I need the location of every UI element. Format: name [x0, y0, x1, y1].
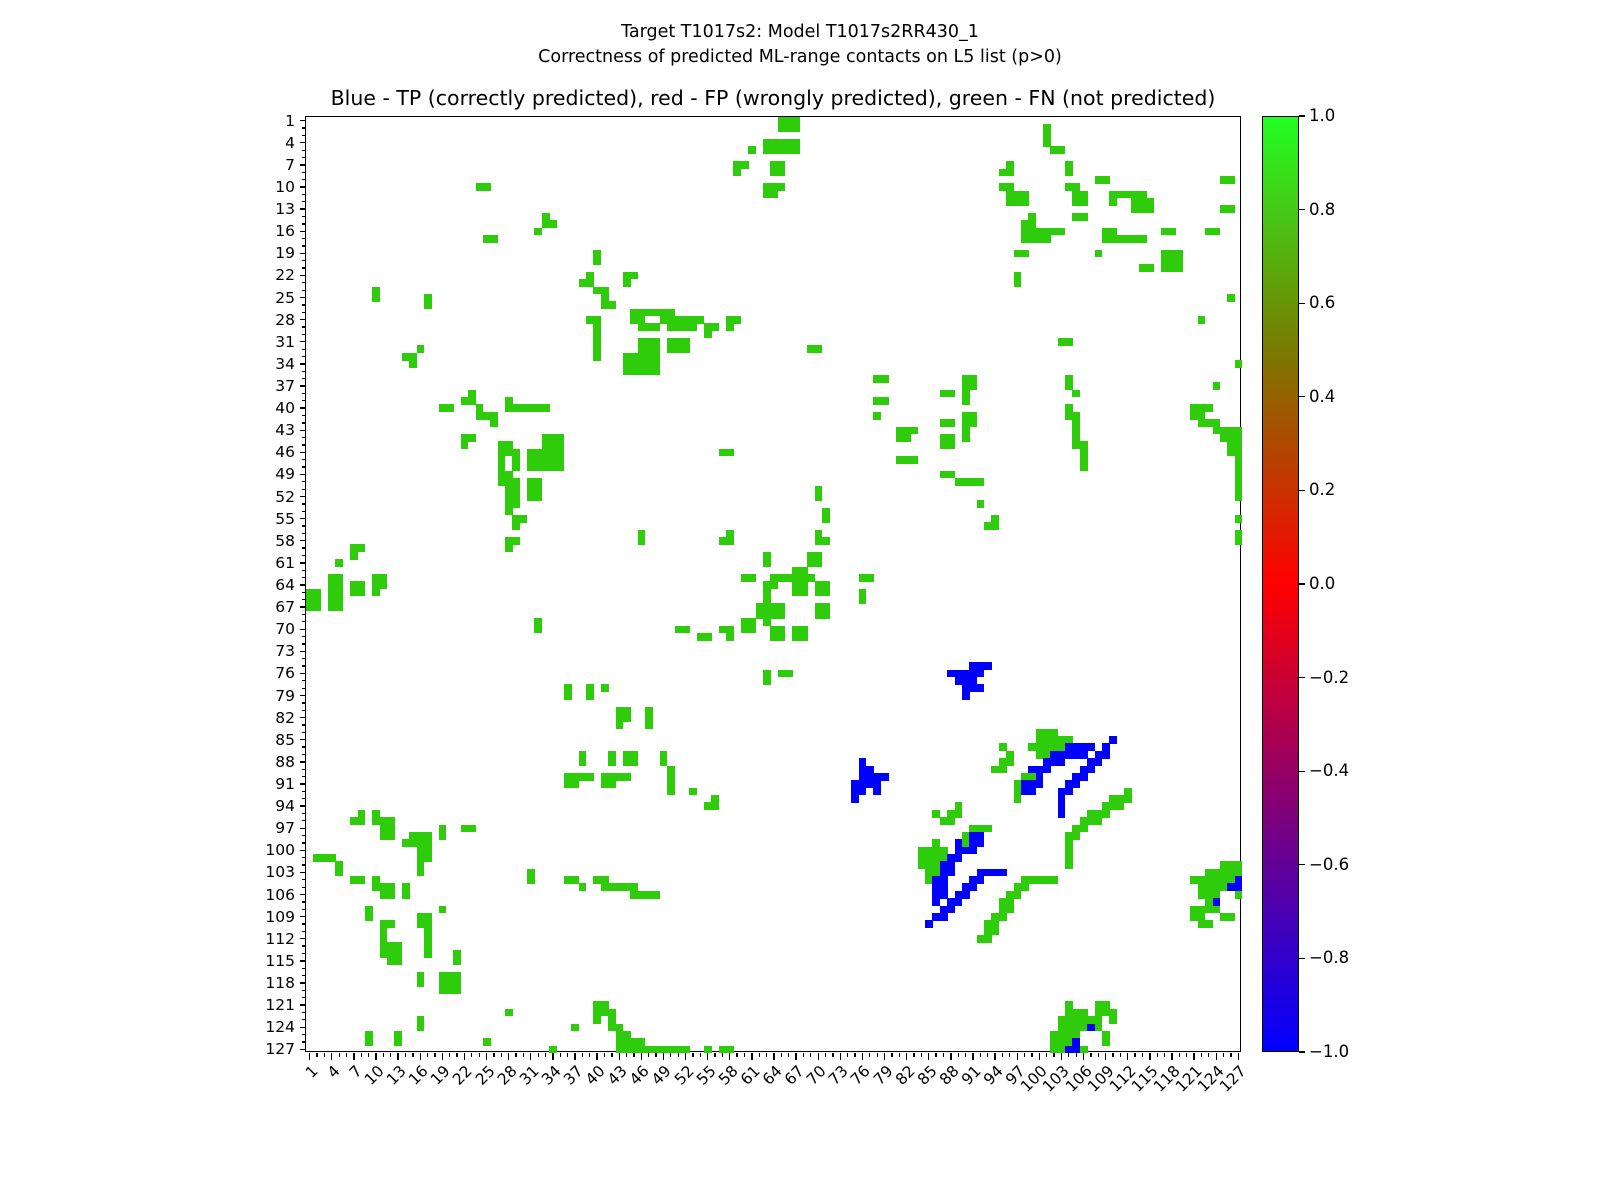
y-tick-label: 22: [205, 266, 295, 284]
y-tick-major: [300, 430, 307, 431]
y-tick-minor: [302, 393, 306, 394]
x-tick-major: [375, 1053, 376, 1060]
y-tick-major: [300, 363, 307, 364]
contact-cell-fn: [689, 323, 697, 331]
contact-cell-tp: [1087, 1024, 1095, 1032]
contact-cell-fn: [910, 456, 918, 464]
contact-cell-fn: [763, 618, 771, 626]
x-tick-major: [685, 1053, 686, 1060]
x-tick-minor: [714, 1053, 715, 1057]
contact-cell-fn: [350, 552, 358, 560]
x-tick-minor: [781, 1053, 782, 1057]
y-tick-minor: [302, 245, 306, 246]
y-tick-label: 19: [205, 244, 295, 262]
y-tick-minor: [302, 304, 306, 305]
contact-cell-fn: [1072, 390, 1080, 398]
x-tick-minor: [1098, 1053, 1099, 1057]
contact-cell-fn: [623, 279, 631, 287]
contact-cell-fn: [1080, 825, 1088, 833]
colorbar-tick-label: 0.2: [1309, 480, 1335, 499]
contact-cell-tp: [881, 773, 889, 781]
contact-cell-tp: [977, 876, 985, 884]
contact-cell-fn: [534, 493, 542, 501]
y-tick-major: [300, 208, 307, 209]
x-tick-minor: [1120, 1053, 1121, 1057]
contact-cell-fn: [1168, 228, 1176, 236]
contact-cell-fn: [1198, 412, 1206, 420]
y-tick-minor: [302, 349, 306, 350]
x-tick-major: [442, 1053, 443, 1060]
contact-cell-fn: [1102, 810, 1110, 818]
x-tick-major: [1083, 1053, 1084, 1060]
x-tick-major: [1039, 1053, 1040, 1060]
x-tick-minor: [471, 1053, 472, 1057]
contact-cell-fn: [358, 876, 366, 884]
contact-cell-tp: [1058, 758, 1066, 766]
contact-cell-fn: [1102, 176, 1110, 184]
contact-cell-fn: [881, 397, 889, 405]
contact-cell-fn: [1058, 228, 1066, 236]
contact-cell-fn: [778, 183, 786, 191]
x-tick-minor: [626, 1053, 627, 1057]
x-tick-minor: [655, 1053, 656, 1057]
contact-cell-fn: [1109, 198, 1117, 206]
contact-cell-fn: [402, 891, 410, 899]
y-tick-minor: [302, 172, 306, 173]
contact-cell-fn: [682, 345, 690, 353]
contact-cell-fn: [505, 1009, 513, 1017]
contact-cell-fn: [711, 323, 719, 331]
contact-cell-fn: [999, 913, 1007, 921]
contact-cell-fn: [468, 825, 476, 833]
x-tick-major: [751, 1053, 752, 1060]
x-tick-minor: [869, 1053, 870, 1057]
x-tick-major: [1238, 1053, 1239, 1060]
x-tick-major: [574, 1053, 575, 1060]
x-tick-minor: [1031, 1053, 1032, 1057]
x-tick-minor: [1230, 1053, 1231, 1057]
contact-cell-fn: [1235, 360, 1243, 368]
contact-cell-fn: [726, 449, 734, 457]
y-tick-label: 46: [205, 443, 295, 461]
contact-cell-fn: [822, 537, 830, 545]
y-tick-major: [300, 319, 307, 320]
x-tick-major: [906, 1053, 907, 1060]
y-tick-minor: [302, 835, 306, 836]
y-tick-minor: [302, 621, 306, 622]
y-tick-minor: [302, 968, 306, 969]
contact-cell-fn: [822, 515, 830, 523]
y-tick-minor: [302, 511, 306, 512]
contact-cell-fn: [512, 500, 520, 508]
colorbar[interactable]: [1262, 116, 1299, 1052]
y-tick-label: 1: [205, 112, 295, 130]
contact-cell-fn: [593, 323, 601, 331]
y-tick-label: 121: [205, 996, 295, 1014]
contact-cell-fn: [623, 714, 631, 722]
colorbar-tick-label: −0.2: [1309, 668, 1349, 687]
contact-cell-fn: [424, 854, 432, 862]
y-tick-minor: [302, 798, 306, 799]
x-tick-minor: [1090, 1053, 1091, 1057]
x-tick-minor: [958, 1053, 959, 1057]
x-tick-minor: [1002, 1053, 1003, 1057]
y-tick-label: 64: [205, 576, 295, 594]
figure-root: Target T1017s2: Model T1017s2RR430_1Corr…: [0, 0, 1600, 1200]
y-tick-label: 124: [205, 1018, 295, 1036]
contact-cell-fn: [586, 692, 594, 700]
y-tick-label: 10: [205, 178, 295, 196]
y-tick-minor: [302, 1012, 306, 1013]
x-tick-major: [773, 1053, 774, 1060]
y-tick-label: 7: [205, 156, 295, 174]
y-tick-major: [300, 385, 307, 386]
contact-cell-fn: [1021, 883, 1029, 891]
y-tick-major: [300, 540, 307, 541]
contact-cell-fn: [947, 817, 955, 825]
contact-cell-fn: [549, 220, 557, 228]
contact-cell-fn: [1213, 382, 1221, 390]
y-tick-label: 4: [205, 134, 295, 152]
contact-cell-tp: [1072, 780, 1080, 788]
contact-cell-fn: [1065, 169, 1073, 177]
contact-cell-fn: [962, 434, 970, 442]
y-tick-minor: [302, 901, 306, 902]
contact-cell-fn: [490, 419, 498, 427]
contact-cell-fn: [955, 810, 963, 818]
y-tick-label: 28: [205, 311, 295, 329]
contact-cell-tp: [962, 891, 970, 899]
contact-cell-fn: [1006, 758, 1014, 766]
contact-cell-fn: [763, 559, 771, 567]
x-tick-major: [729, 1053, 730, 1060]
y-tick-minor: [302, 157, 306, 158]
contact-cell-fn: [358, 817, 366, 825]
y-tick-label: 61: [205, 554, 295, 572]
y-tick-label: 43: [205, 421, 295, 439]
y-tick-major: [300, 673, 307, 674]
colorbar-tick: [1299, 396, 1305, 397]
colorbar-tick-label: 0.8: [1309, 200, 1335, 219]
y-tick-major: [300, 164, 307, 165]
x-tick-major: [464, 1053, 465, 1060]
contact-cell-tp: [962, 692, 970, 700]
x-tick-minor: [515, 1053, 516, 1057]
contact-cell-fn: [483, 1038, 491, 1046]
x-tick-minor: [604, 1053, 605, 1057]
contact-cell-tp: [1080, 773, 1088, 781]
x-tick-minor: [1208, 1053, 1209, 1057]
contact-cell-tp: [977, 839, 985, 847]
x-tick-minor: [759, 1053, 760, 1057]
contact-cell-tp: [977, 684, 985, 692]
x-tick-minor: [383, 1053, 384, 1057]
contact-cell-fn: [335, 869, 343, 877]
contact-cell-tp: [999, 869, 1007, 877]
contact-cell-fn: [512, 522, 520, 530]
contact-cell-fn: [372, 589, 380, 597]
contact-cell-fn: [586, 773, 594, 781]
contact-cell-fn: [903, 434, 911, 442]
contact-cell-fn: [417, 979, 425, 987]
contact-cell-fn: [601, 684, 609, 692]
contact-cell-fn: [1235, 891, 1243, 899]
y-tick-label: 103: [205, 863, 295, 881]
x-tick-major: [353, 1053, 354, 1060]
x-tick-minor: [1201, 1053, 1202, 1057]
contact-cell-fn: [1095, 817, 1103, 825]
contact-cell-tp: [1036, 780, 1044, 788]
x-tick-minor: [943, 1053, 944, 1057]
x-tick-minor: [368, 1053, 369, 1057]
contact-cell-fn: [962, 397, 970, 405]
contact-cell-fn: [652, 368, 660, 376]
contact-cell-fn: [763, 677, 771, 685]
x-tick-major: [596, 1053, 597, 1060]
y-tick-minor: [302, 1019, 306, 1020]
contact-cell-fn: [770, 581, 778, 589]
contact-cell-fn: [733, 316, 741, 324]
y-tick-major: [300, 805, 307, 806]
contact-cell-tp: [1072, 1038, 1080, 1046]
contact-cell-fn: [1058, 146, 1066, 154]
contact-cell-fn: [512, 537, 520, 545]
x-tick-major: [884, 1053, 885, 1060]
contact-cell-fn: [881, 375, 889, 383]
contact-cell-fn: [873, 412, 881, 420]
y-tick-major: [300, 275, 307, 276]
contact-cell-fn: [1072, 832, 1080, 840]
x-tick-minor: [545, 1053, 546, 1057]
contact-cell-fn: [1095, 250, 1103, 258]
y-tick-label: 109: [205, 908, 295, 926]
x-tick-minor: [339, 1053, 340, 1057]
contact-cell-fn: [778, 169, 786, 177]
y-tick-minor: [302, 680, 306, 681]
x-tick-minor: [854, 1053, 855, 1057]
contact-cell-fn: [608, 301, 616, 309]
y-tick-minor: [302, 525, 306, 526]
y-tick-label: 85: [205, 731, 295, 749]
x-tick-minor: [456, 1053, 457, 1057]
contact-map-axes[interactable]: [305, 116, 1241, 1052]
y-tick-minor: [302, 791, 306, 792]
x-tick-minor: [346, 1053, 347, 1057]
contact-cell-fn: [815, 345, 823, 353]
contact-cell-fn: [748, 574, 756, 582]
contact-cell-fn: [1198, 316, 1206, 324]
contact-cell-fn: [1139, 235, 1147, 243]
x-tick-minor: [1223, 1053, 1224, 1057]
y-tick-minor: [302, 179, 306, 180]
y-tick-minor: [302, 466, 306, 467]
contact-cell-fn: [800, 633, 808, 641]
contact-cell-fn: [1235, 515, 1243, 523]
contact-cell-fn: [446, 404, 454, 412]
y-tick-major: [300, 1027, 307, 1028]
contact-cell-fn: [726, 537, 734, 545]
contact-cell-fn: [1117, 802, 1125, 810]
contact-cell-fn: [424, 950, 432, 958]
y-tick-minor: [302, 1034, 306, 1035]
x-tick-major: [818, 1053, 819, 1060]
contact-cell-fn: [1205, 404, 1213, 412]
x-tick-minor: [899, 1053, 900, 1057]
x-tick-minor: [980, 1053, 981, 1057]
contact-cell-fn: [1227, 176, 1235, 184]
contact-cell-tp: [1043, 766, 1051, 774]
x-tick-minor: [1157, 1053, 1158, 1057]
x-tick-minor: [1112, 1053, 1113, 1057]
contact-cell-fn: [1014, 279, 1022, 287]
y-tick-label: 37: [205, 377, 295, 395]
contact-cell-fn: [910, 427, 918, 435]
contact-cell-fn: [1043, 235, 1051, 243]
contact-cell-fn: [520, 515, 528, 523]
contact-cell-fn: [652, 323, 660, 331]
y-tick-minor: [302, 238, 306, 239]
x-tick-minor: [736, 1053, 737, 1057]
x-tick-minor: [501, 1053, 502, 1057]
contact-cell-fn: [417, 1024, 425, 1032]
contact-cell-fn: [704, 331, 712, 339]
y-tick-minor: [302, 1041, 306, 1042]
x-tick-minor: [1009, 1053, 1010, 1057]
contact-cell-fn: [1021, 250, 1029, 258]
contact-map-cells: [306, 117, 1240, 1051]
contact-cell-fn: [1065, 338, 1073, 346]
contact-cell-fn: [468, 434, 476, 442]
contact-cell-fn: [439, 906, 447, 914]
contact-cell-fn: [807, 559, 815, 567]
x-tick-major: [1149, 1053, 1150, 1060]
figure-suptitle: Target T1017s2: Model T1017s2RR430_1Corr…: [0, 20, 1600, 70]
contact-cell-fn: [335, 559, 343, 567]
colorbar-tick: [1299, 771, 1305, 772]
colorbar-tick: [1299, 115, 1305, 116]
contact-cell-fn: [498, 441, 506, 449]
contact-cell-fn: [439, 832, 447, 840]
x-tick-major: [795, 1053, 796, 1060]
x-tick-minor: [766, 1053, 767, 1057]
contact-cell-fn: [623, 773, 631, 781]
y-tick-minor: [302, 437, 306, 438]
y-tick-label: 55: [205, 510, 295, 528]
x-tick-minor: [316, 1053, 317, 1057]
contact-cell-fn: [534, 228, 542, 236]
contact-cell-fn: [726, 633, 734, 641]
x-tick-minor: [412, 1053, 413, 1057]
y-tick-minor: [302, 813, 306, 814]
contact-cell-fn: [792, 139, 800, 147]
y-tick-label: 91: [205, 775, 295, 793]
x-tick-minor: [700, 1053, 701, 1057]
contact-cell-fn: [527, 493, 535, 501]
colorbar-tick: [1299, 958, 1305, 959]
contact-cell-fn: [748, 618, 756, 626]
y-tick-major: [300, 474, 307, 475]
y-tick-minor: [302, 533, 306, 534]
contact-cell-fn: [387, 832, 395, 840]
suptitle-line-2: Correctness of predicted ML-range contac…: [538, 47, 1062, 67]
y-tick-major: [300, 297, 307, 298]
x-tick-major: [1193, 1053, 1194, 1060]
contact-cell-fn: [505, 493, 513, 501]
y-tick-minor: [302, 356, 306, 357]
contact-cell-fn: [792, 146, 800, 154]
y-tick-minor: [302, 923, 306, 924]
contact-cell-fn: [785, 146, 793, 154]
y-tick-minor: [302, 953, 306, 954]
contact-cell-tp: [1095, 758, 1103, 766]
contact-cell-fn: [579, 758, 587, 766]
y-tick-major: [300, 783, 307, 784]
y-tick-minor: [302, 636, 306, 637]
contact-cell-fn: [726, 323, 734, 331]
y-tick-major: [300, 982, 307, 983]
contact-cell-fn: [1065, 861, 1073, 869]
x-tick-major: [552, 1053, 553, 1060]
colorbar-tick: [1299, 583, 1305, 584]
y-tick-minor: [302, 945, 306, 946]
y-tick-minor: [302, 503, 306, 504]
contact-cell-fn: [999, 766, 1007, 774]
y-tick-major: [300, 253, 307, 254]
y-tick-minor: [302, 459, 306, 460]
contact-cell-fn: [1235, 493, 1243, 501]
y-tick-minor: [302, 371, 306, 372]
contact-cell-fn: [1227, 913, 1235, 921]
contact-cell-tp: [1058, 810, 1066, 818]
x-tick-major: [950, 1053, 951, 1060]
y-tick-label: 67: [205, 598, 295, 616]
y-tick-minor: [302, 658, 306, 659]
contact-cell-fn: [365, 1038, 373, 1046]
y-tick-major: [300, 717, 307, 718]
contact-cell-fn: [947, 419, 955, 427]
y-tick-minor: [302, 997, 306, 998]
y-tick-major: [300, 452, 307, 453]
y-tick-label: 49: [205, 465, 295, 483]
x-tick-minor: [678, 1053, 679, 1057]
x-tick-minor: [670, 1053, 671, 1057]
contact-cell-fn: [387, 920, 395, 928]
contact-cell-fn: [991, 522, 999, 530]
x-tick-minor: [803, 1053, 804, 1057]
contact-cell-fn: [608, 780, 616, 788]
x-tick-minor: [1134, 1053, 1135, 1057]
y-tick-major: [300, 341, 307, 342]
x-tick-major: [530, 1053, 531, 1060]
y-tick-major: [300, 916, 307, 917]
contact-cell-fn: [358, 544, 366, 552]
y-tick-label: 52: [205, 488, 295, 506]
x-tick-major: [840, 1053, 841, 1060]
contact-cell-fn: [1050, 876, 1058, 884]
x-tick-minor: [560, 1053, 561, 1057]
y-tick-minor: [302, 754, 306, 755]
y-tick-label: 88: [205, 753, 295, 771]
x-tick-major: [486, 1053, 487, 1060]
contact-cell-fn: [335, 603, 343, 611]
contact-cell-tp: [1109, 736, 1117, 744]
contact-cell-fn: [453, 987, 461, 995]
x-tick-minor: [523, 1053, 524, 1057]
contact-cell-fn: [527, 876, 535, 884]
x-tick-minor: [427, 1053, 428, 1057]
y-tick-minor: [302, 599, 306, 600]
contact-cell-fn: [483, 183, 491, 191]
